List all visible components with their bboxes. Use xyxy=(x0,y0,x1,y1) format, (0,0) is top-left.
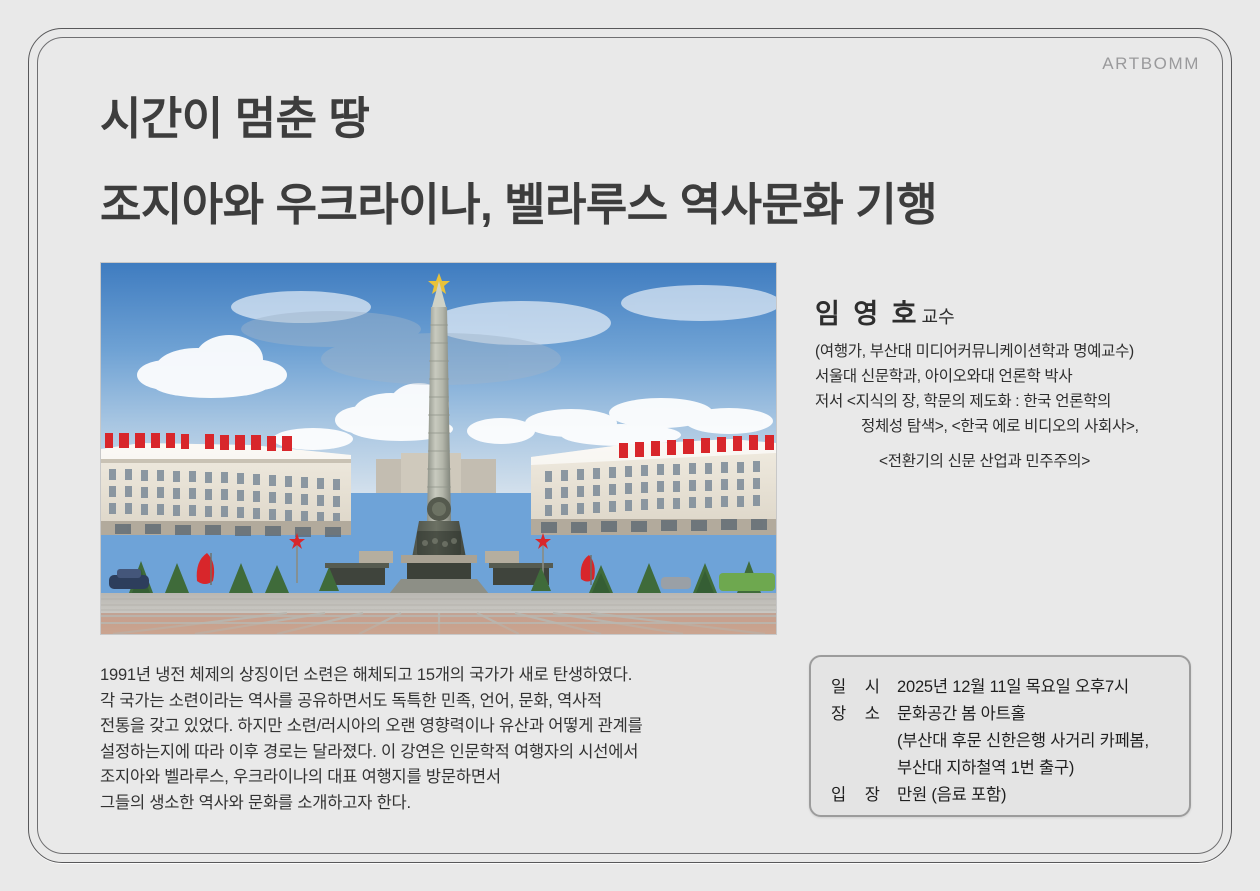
speaker-books-line-1: 저서 <지식의 장, 학문의 제도화 : 한국 언론학의 xyxy=(815,389,1235,414)
hero-photo-victory-square-minsk xyxy=(101,263,776,634)
speaker-education: 서울대 신문학과, 아이오와대 언론학 박사 xyxy=(815,364,1235,389)
speaker-affiliation: (여행가, 부산대 미디어커뮤니케이션학과 명예교수) xyxy=(815,339,1235,364)
event-fee-label: 입 장 xyxy=(831,782,897,809)
poster-canvas: ARTBOMM 시간이 멈춘 땅 조지아와 우크라이나, 벨라루스 역사문화 기… xyxy=(0,0,1260,891)
speaker-books-line-3: <전환기의 신문 산업과 민주주의> xyxy=(815,449,1235,474)
speaker-bio: (여행가, 부산대 미디어커뮤니케이션학과 명예교수) 서울대 신문학과, 아이… xyxy=(815,339,1235,474)
event-venue-label: 장 소 xyxy=(831,701,897,728)
page-title-line-2: 조지아와 우크라이나, 벨라루스 역사문화 기행 xyxy=(100,168,937,233)
speaker-info: 임 영 호교수 (여행가, 부산대 미디어커뮤니케이션학과 명예교수) 서울대 … xyxy=(815,300,1235,474)
event-venue-sub-1: (부산대 후문 신한은행 사거리 카페봄, xyxy=(831,728,1189,755)
speaker-title: 교수 xyxy=(922,307,955,327)
brand-logo: ARTBOMM xyxy=(1102,54,1200,74)
event-venue-sub-2: 부산대 지하철역 1번 출구) xyxy=(831,755,1189,782)
lecture-description: 1991년 냉전 체제의 상징이던 소련은 해체되고 15개의 국가가 새로 탄… xyxy=(100,663,790,816)
event-fee-value: 만원 (음료 포함) xyxy=(897,782,1189,809)
photo-illustration xyxy=(101,263,776,634)
event-date-label: 일 시 xyxy=(831,674,897,701)
event-row-venue: 장 소 문화공간 봄 아트홀 xyxy=(831,701,1189,728)
speaker-name: 임 영 호 xyxy=(815,300,920,330)
event-venue-value: 문화공간 봄 아트홀 xyxy=(897,701,1189,728)
page-title-line-1: 시간이 멈춘 땅 xyxy=(100,82,369,147)
event-details-rows: 일 시 2025년 12월 11일 목요일 오후7시 장 소 문화공간 봄 아트… xyxy=(811,657,1189,809)
event-row-date: 일 시 2025년 12월 11일 목요일 오후7시 xyxy=(831,674,1189,701)
speaker-heading: 임 영 호교수 xyxy=(815,300,1235,330)
event-date-value: 2025년 12월 11일 목요일 오후7시 xyxy=(897,674,1189,701)
speaker-books-line-2: 정체성 탐색>, <한국 에로 비디오의 사회사>, xyxy=(815,414,1235,439)
event-row-fee: 입 장 만원 (음료 포함) xyxy=(831,782,1189,809)
event-details-box: 일 시 2025년 12월 11일 목요일 오후7시 장 소 문화공간 봄 아트… xyxy=(809,655,1191,817)
